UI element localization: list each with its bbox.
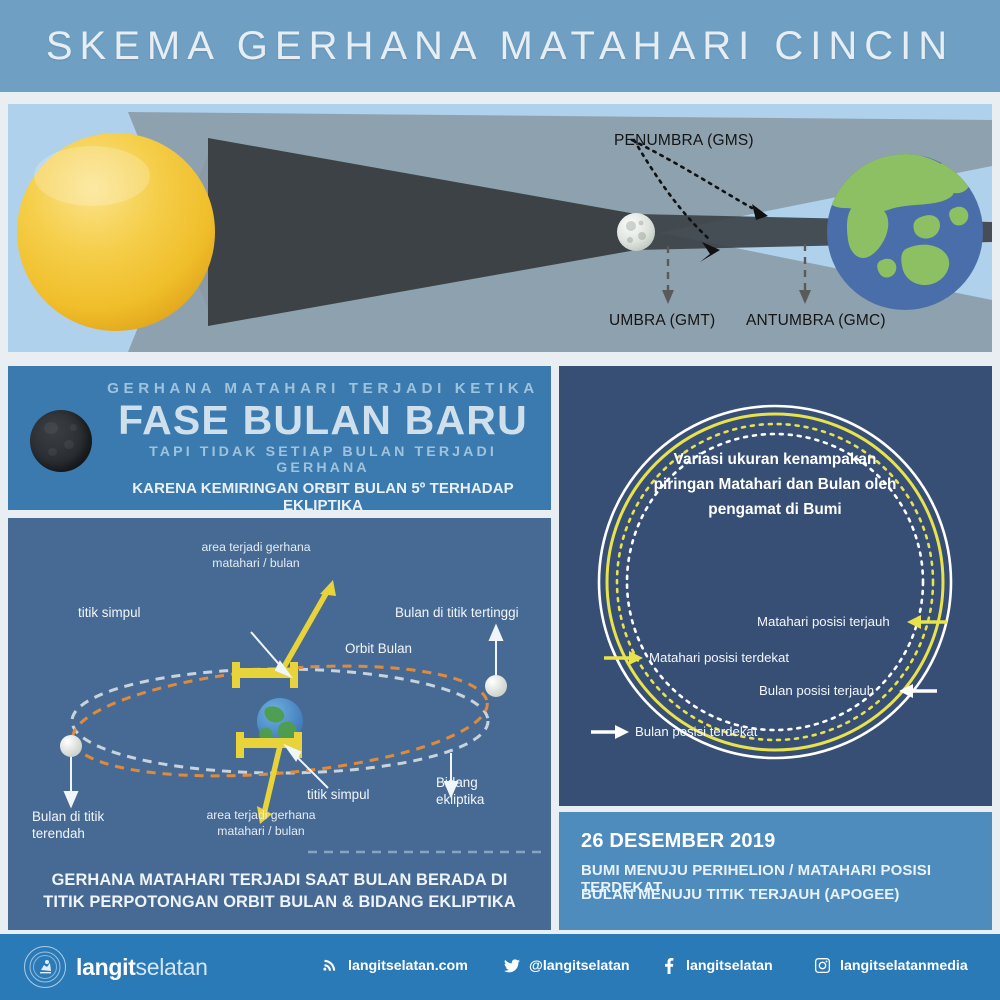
page-title: SKEMA GERHANA MATAHARI CINCIN — [0, 0, 1000, 92]
social-instagram-label: langitselatanmedia — [840, 958, 968, 974]
eclipse-area-arrow-top — [280, 580, 336, 674]
orbit-caption-l2: TITIK PERPOTONGAN ORBIT BULAN & BIDANG E… — [8, 892, 551, 914]
infographic-page: SKEMA GERHANA MATAHARI CINCIN — [0, 0, 1000, 1000]
label-bidang-l2: ekliptika — [436, 791, 484, 808]
orbit-caption: GERHANA MATAHARI TERJADI SAAT BULAN BERA… — [8, 870, 551, 914]
fase-text-block: GERHANA MATAHARI TERJADI KETIKA FASE BUL… — [103, 380, 543, 514]
eclipse-date: 26 DESEMBER 2019 — [581, 830, 775, 853]
label-penumbra: PENUMBRA (GMS) — [614, 132, 754, 150]
langitselatan-seal-logo[interactable] — [24, 946, 66, 988]
rss-icon — [322, 957, 339, 974]
social-facebook[interactable]: langitselatan — [660, 957, 773, 974]
brand-light: selatan — [136, 954, 208, 980]
fase-line-1: GERHANA MATAHARI TERJADI KETIKA — [103, 380, 543, 397]
facebook-icon — [660, 957, 677, 974]
moon-orbit-panel: area terjadi gerhana matahari / bulan ti… — [8, 518, 551, 930]
label-area-gerhana-top-l2: matahari / bulan — [166, 556, 346, 572]
apparent-size-title: Variasi ukuran kenampakan piringan Matah… — [605, 448, 945, 523]
label-antumbra: ANTUMBRA (GMC) — [746, 312, 886, 330]
header-bar: SKEMA GERHANA MATAHARI CINCIN — [0, 0, 1000, 92]
label-bulan-terdekat: Bulan posisi terdekat — [635, 724, 757, 739]
label-matahari-terjauh: Matahari posisi terjauh — [757, 614, 890, 629]
moon-orbit-svg — [8, 518, 551, 930]
moon-sphere — [617, 213, 655, 251]
label-titik-simpul-top: titik simpul — [78, 604, 141, 621]
instagram-icon — [814, 957, 831, 974]
label-bulan-terendah: Bulan di titik terendah — [32, 808, 104, 842]
moon-lowest-point — [60, 735, 82, 757]
social-website[interactable]: langitselatan.com — [322, 957, 468, 974]
apparent-size-panel: Variasi ukuran kenampakan piringan Matah… — [559, 366, 992, 806]
leader-bulan-tertinggi — [490, 626, 502, 678]
social-twitter[interactable]: @langitselatan — [503, 957, 630, 974]
label-bidang-ekliptika: Bidang ekliptika — [436, 774, 484, 808]
label-bulan-terendah-l1: Bulan di titik — [32, 808, 104, 825]
brand-wordmark[interactable]: langitselatan — [76, 954, 208, 981]
label-orbit-bulan: Orbit Bulan — [345, 640, 412, 657]
label-umbra: UMBRA (GMT) — [609, 312, 715, 330]
leader-titik-simpul-bottom — [286, 746, 328, 788]
label-titik-simpul-bottom: titik simpul — [307, 786, 370, 803]
new-moon-icon — [30, 410, 92, 472]
social-website-label: langitselatan.com — [348, 958, 468, 974]
label-bulan-terjauh: Bulan posisi terjauh — [759, 683, 874, 698]
label-area-gerhana-top: area terjadi gerhana matahari / bulan — [166, 540, 346, 571]
label-area-gerhana-bottom: area terjadi gerhana matahari / bulan — [186, 808, 336, 839]
twitter-icon — [503, 957, 520, 974]
apparent-size-svg — [559, 366, 992, 806]
social-twitter-label: @langitselatan — [529, 958, 630, 974]
apparent-size-title-l1: Variasi ukuran kenampakan — [605, 448, 945, 473]
date-info-panel: 26 DESEMBER 2019 BUMI MENUJU PERIHELION … — [559, 812, 992, 930]
orbit-caption-l1: GERHANA MATAHARI TERJADI SAAT BULAN BERA… — [8, 870, 551, 892]
label-bidang-l1: Bidang — [436, 774, 484, 791]
apparent-size-title-l3: pengamat di Bumi — [605, 498, 945, 523]
label-area-gerhana-bottom-l1: area terjadi gerhana — [186, 808, 336, 824]
fase-line-3: TAPI TIDAK SETIAP BULAN TERJADI GERHANA — [103, 444, 543, 476]
label-matahari-terdekat: Matahari posisi terdekat — [649, 650, 789, 665]
date-note-2: BULAN MENUJU TITIK TERJAUH (APOGEE) — [581, 886, 900, 903]
seal-icon — [28, 950, 62, 984]
fase-line-2: FASE BULAN BARU — [103, 399, 543, 442]
social-facebook-label: langitselatan — [686, 958, 773, 974]
fase-line-4: KARENA KEMIRINGAN ORBIT BULAN 5º TERHADA… — [103, 480, 543, 514]
label-bulan-tertinggi: Bulan di titik tertinggi — [395, 604, 519, 621]
apparent-size-title-l2: piringan Matahari dan Bulan oleh — [605, 473, 945, 498]
label-area-gerhana-bottom-l2: matahari / bulan — [186, 824, 336, 840]
label-area-gerhana-top-l1: area terjadi gerhana — [166, 540, 346, 556]
eclipse-geometry-diagram: PENUMBRA (GMS) UMBRA (GMT) ANTUMBRA (GMC… — [8, 104, 992, 352]
brand-bold: langit — [76, 954, 136, 980]
arrow-bulan-terdekat — [591, 725, 629, 739]
moon-highest-point — [485, 675, 507, 697]
new-moon-phase-panel: GERHANA MATAHARI TERJADI KETIKA FASE BUL… — [8, 366, 551, 510]
social-instagram[interactable]: langitselatanmedia — [814, 957, 968, 974]
leader-bulan-terendah — [65, 754, 77, 806]
footer-bar: langitselatan langitselatan.com @langits… — [0, 934, 1000, 1000]
label-bulan-terendah-l2: terendah — [32, 825, 104, 842]
